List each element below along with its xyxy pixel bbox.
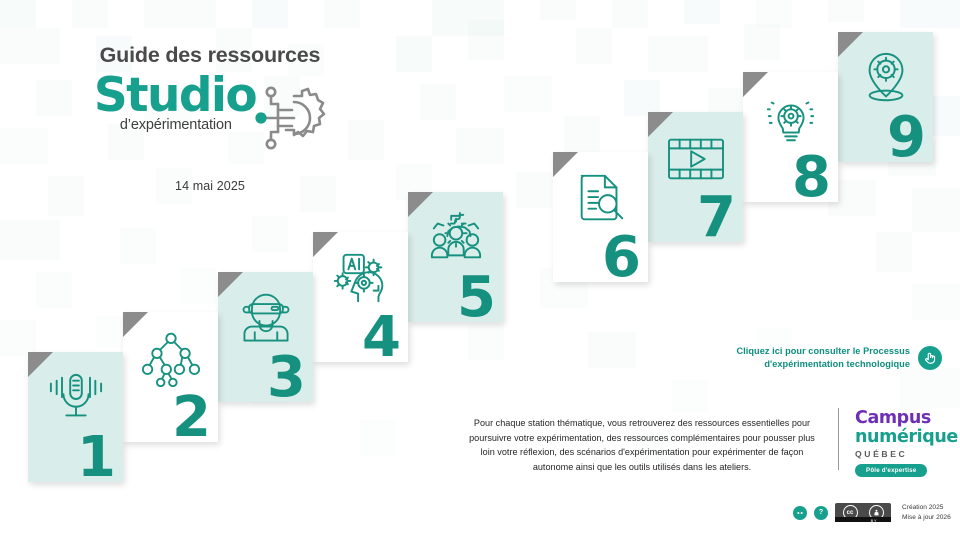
ai-head-gears-icon (313, 248, 408, 310)
info-icon[interactable]: ? (814, 506, 828, 520)
campus-line3: QUÉBEC (855, 449, 958, 459)
microphone-icon (28, 368, 123, 430)
station-number: 7 (697, 190, 734, 242)
creation-year: Création 2025 (902, 503, 951, 513)
campus-pill: Pôle d'expertise (855, 464, 927, 477)
station-number: 3 (267, 350, 304, 402)
process-link-line2: d'expérimentation technologique (737, 358, 911, 371)
footer-bar: ? cc BY Création 2025 Mise à jour 2026 (793, 503, 951, 523)
station-number: 1 (77, 430, 114, 482)
campus-line2: numérique (855, 428, 958, 446)
studio-wordmark: Studio d’expérimentation (94, 74, 256, 133)
station-card-9[interactable]: 9 (838, 32, 933, 162)
cc-by-label: BY (871, 518, 877, 523)
station-card-5[interactable]: 5 (408, 192, 503, 322)
process-link-line1: Cliquez ici pour consulter le Processus (737, 345, 911, 358)
poster-canvas: Guide des ressources Studio d’expériment… (0, 0, 960, 540)
gear-circuit-icon (250, 80, 326, 161)
campus-line1: Campus (855, 410, 958, 428)
social-icon[interactable] (793, 506, 807, 520)
station-card-3[interactable]: 3 (218, 272, 313, 402)
logo-divider (838, 408, 839, 470)
studio-logo: Studio d’expérimentation (0, 74, 420, 161)
document-search-icon (553, 168, 648, 230)
station-card-1[interactable]: 1 (28, 352, 123, 482)
credits-block: Création 2025 Mise à jour 2026 (902, 503, 951, 523)
map-pin-gear-icon (838, 48, 933, 110)
station-number: 5 (457, 270, 494, 322)
studio-word: Studio (94, 74, 256, 117)
click-hand-icon[interactable] (918, 346, 942, 370)
process-link[interactable]: Cliquez ici pour consulter le Processus … (737, 345, 943, 372)
header-block: Guide des ressources Studio d’expériment… (0, 44, 420, 193)
station-number: 2 (172, 390, 209, 442)
station-card-4[interactable]: 4 (313, 232, 408, 362)
video-play-icon (648, 128, 743, 190)
intro-paragraph: Pour chaque station thématique, vous ret… (468, 416, 816, 475)
station-number: 8 (792, 150, 829, 202)
team-gear-icon (408, 208, 503, 270)
station-number: 6 (602, 230, 639, 282)
update-year: Mise à jour 2026 (902, 513, 951, 523)
station-card-6[interactable]: 6 (553, 152, 648, 282)
date-label: 14 mai 2025 (0, 179, 420, 193)
station-number: 9 (887, 110, 924, 162)
process-link-label: Cliquez ici pour consulter le Processus … (737, 345, 911, 372)
cc-bar (835, 517, 891, 522)
creative-commons-badge[interactable]: cc BY (835, 503, 891, 522)
station-card-8[interactable]: 8 (743, 72, 838, 202)
campus-numerique-logo: Campus numérique QUÉBEC Pôle d'expertise (855, 410, 958, 477)
station-card-2[interactable]: 2 (123, 312, 218, 442)
page-title: Guide des ressources (0, 44, 420, 68)
tree-network-icon (123, 328, 218, 390)
lightbulb-gear-icon (743, 88, 838, 150)
station-number: 4 (362, 310, 399, 362)
vr-headset-person-icon (218, 288, 313, 350)
station-card-7[interactable]: 7 (648, 112, 743, 242)
